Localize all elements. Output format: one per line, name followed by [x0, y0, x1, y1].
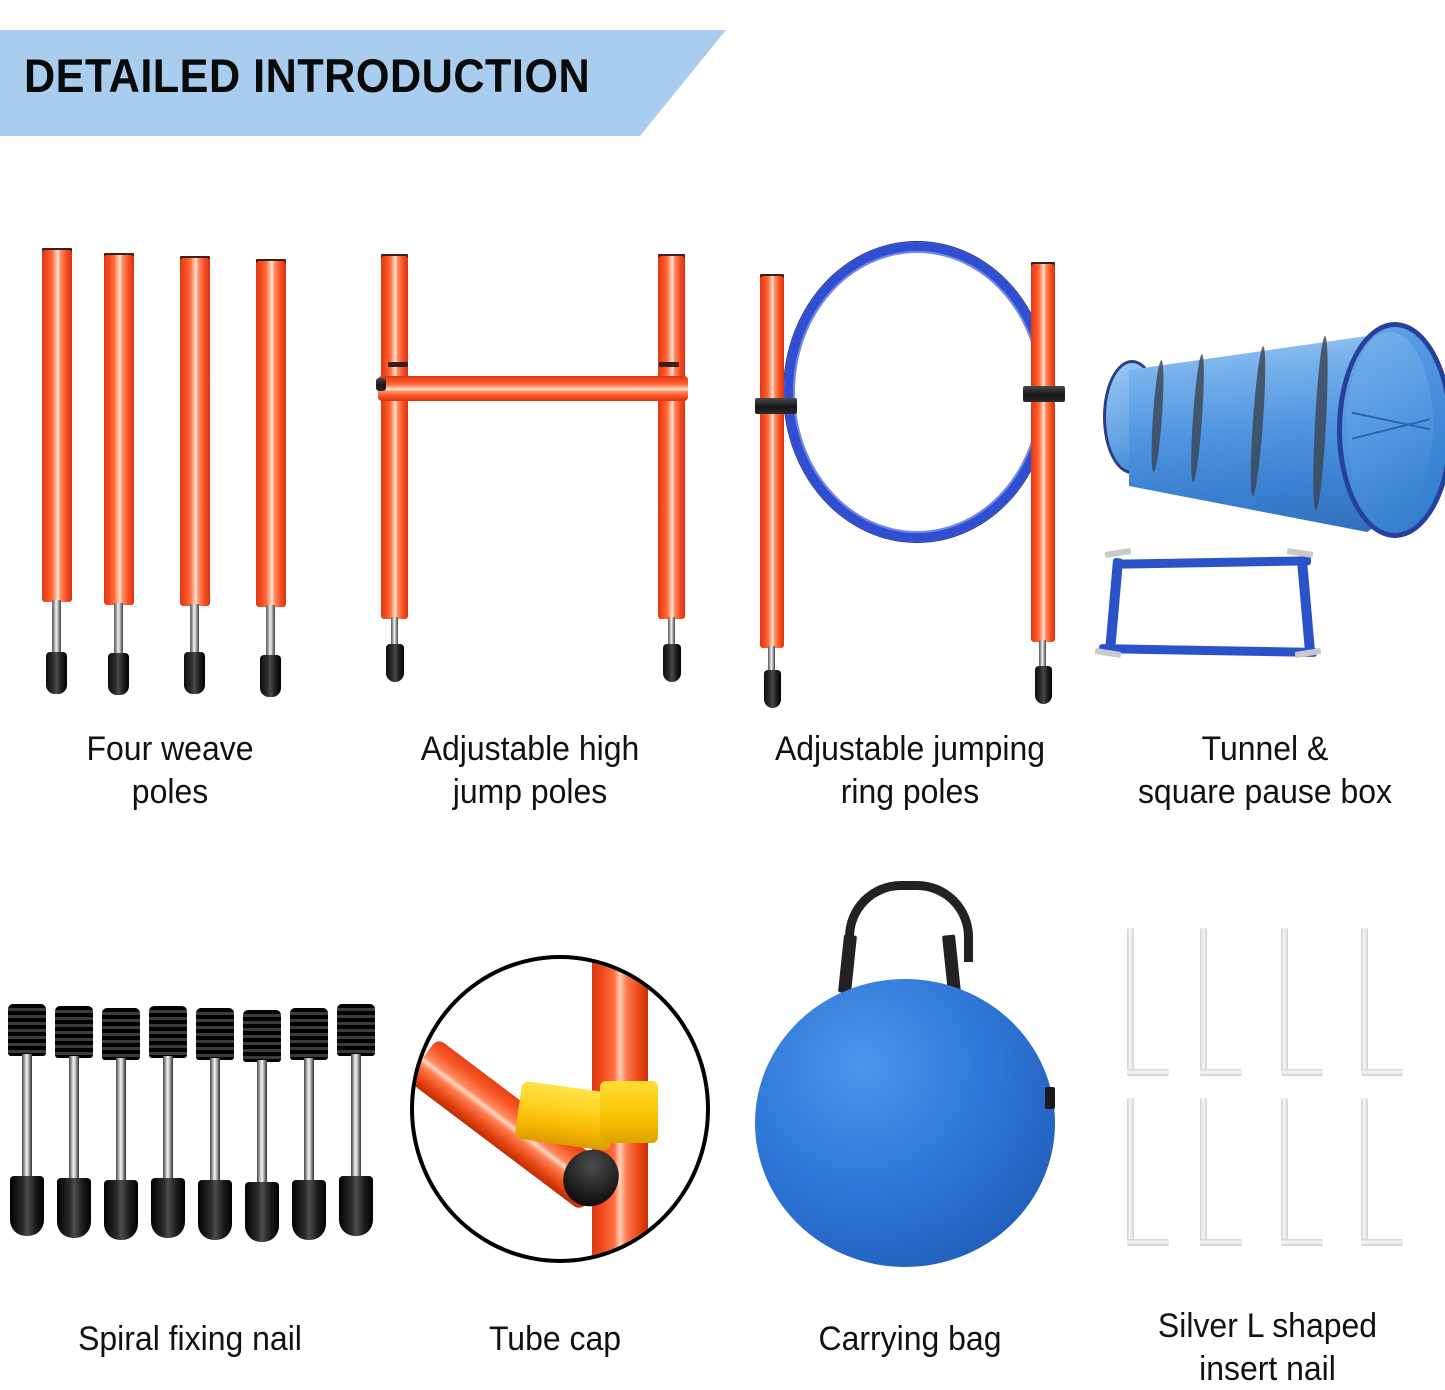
caption-line-1: Four weave	[20, 728, 321, 771]
caption-line-2: poles	[20, 771, 321, 814]
caption-carrying-bag: Carrying bag	[750, 1318, 1070, 1361]
carrying-bag-icon	[745, 875, 1075, 1275]
product-tunnel-pause-box	[1095, 240, 1445, 690]
caption-line-2: insert nail	[1101, 1348, 1435, 1390]
caption-line-1: Adjustable jumping	[741, 728, 1079, 771]
product-high-jump-poles	[360, 240, 700, 690]
product-weave-poles	[10, 240, 330, 690]
caption-line-1: Tunnel &	[1096, 728, 1434, 771]
product-carrying-bag	[745, 875, 1075, 1275]
caption-l-insert-nail: Silver L shaped insert nail	[1101, 1305, 1435, 1390]
caption-line-1: Spiral fixing nail	[11, 1318, 368, 1361]
caption-high-jump-poles: Adjustable high jump poles	[366, 728, 695, 813]
high-jump-icon	[360, 240, 700, 690]
product-l-insert-nail	[1105, 920, 1445, 1270]
caption-line-2: jump poles	[366, 771, 695, 814]
caption-line-2: ring poles	[741, 771, 1079, 814]
caption-line-1: Silver L shaped	[1101, 1305, 1435, 1348]
product-tube-cap	[410, 955, 710, 1265]
tunnel-icon	[1095, 240, 1445, 690]
jump-ring-icon	[740, 240, 1080, 690]
weave-pole-icon	[10, 240, 330, 690]
caption-line-2: square pause box	[1096, 771, 1434, 814]
caption-tunnel-pause-box: Tunnel & square pause box	[1096, 728, 1434, 813]
caption-line-1: Tube cap	[409, 1318, 700, 1361]
caption-tube-cap: Tube cap	[409, 1318, 700, 1361]
caption-jumping-ring-poles: Adjustable jumping ring poles	[741, 728, 1079, 813]
page-title: DETAILED INTRODUCTION	[24, 48, 590, 103]
product-spiral-nail	[0, 1000, 380, 1250]
caption-line-1: Carrying bag	[750, 1318, 1070, 1361]
pause-box-icon	[1095, 540, 1333, 660]
tube-cap-icon	[410, 955, 710, 1263]
spiral-nail-icon	[0, 1000, 380, 1250]
caption-line-1: Adjustable high	[366, 728, 695, 771]
product-jumping-ring-poles	[740, 240, 1080, 690]
l-nail-icon	[1105, 920, 1445, 1270]
caption-weave-poles: Four weave poles	[20, 728, 321, 813]
caption-spiral-nail: Spiral fixing nail	[11, 1318, 368, 1361]
